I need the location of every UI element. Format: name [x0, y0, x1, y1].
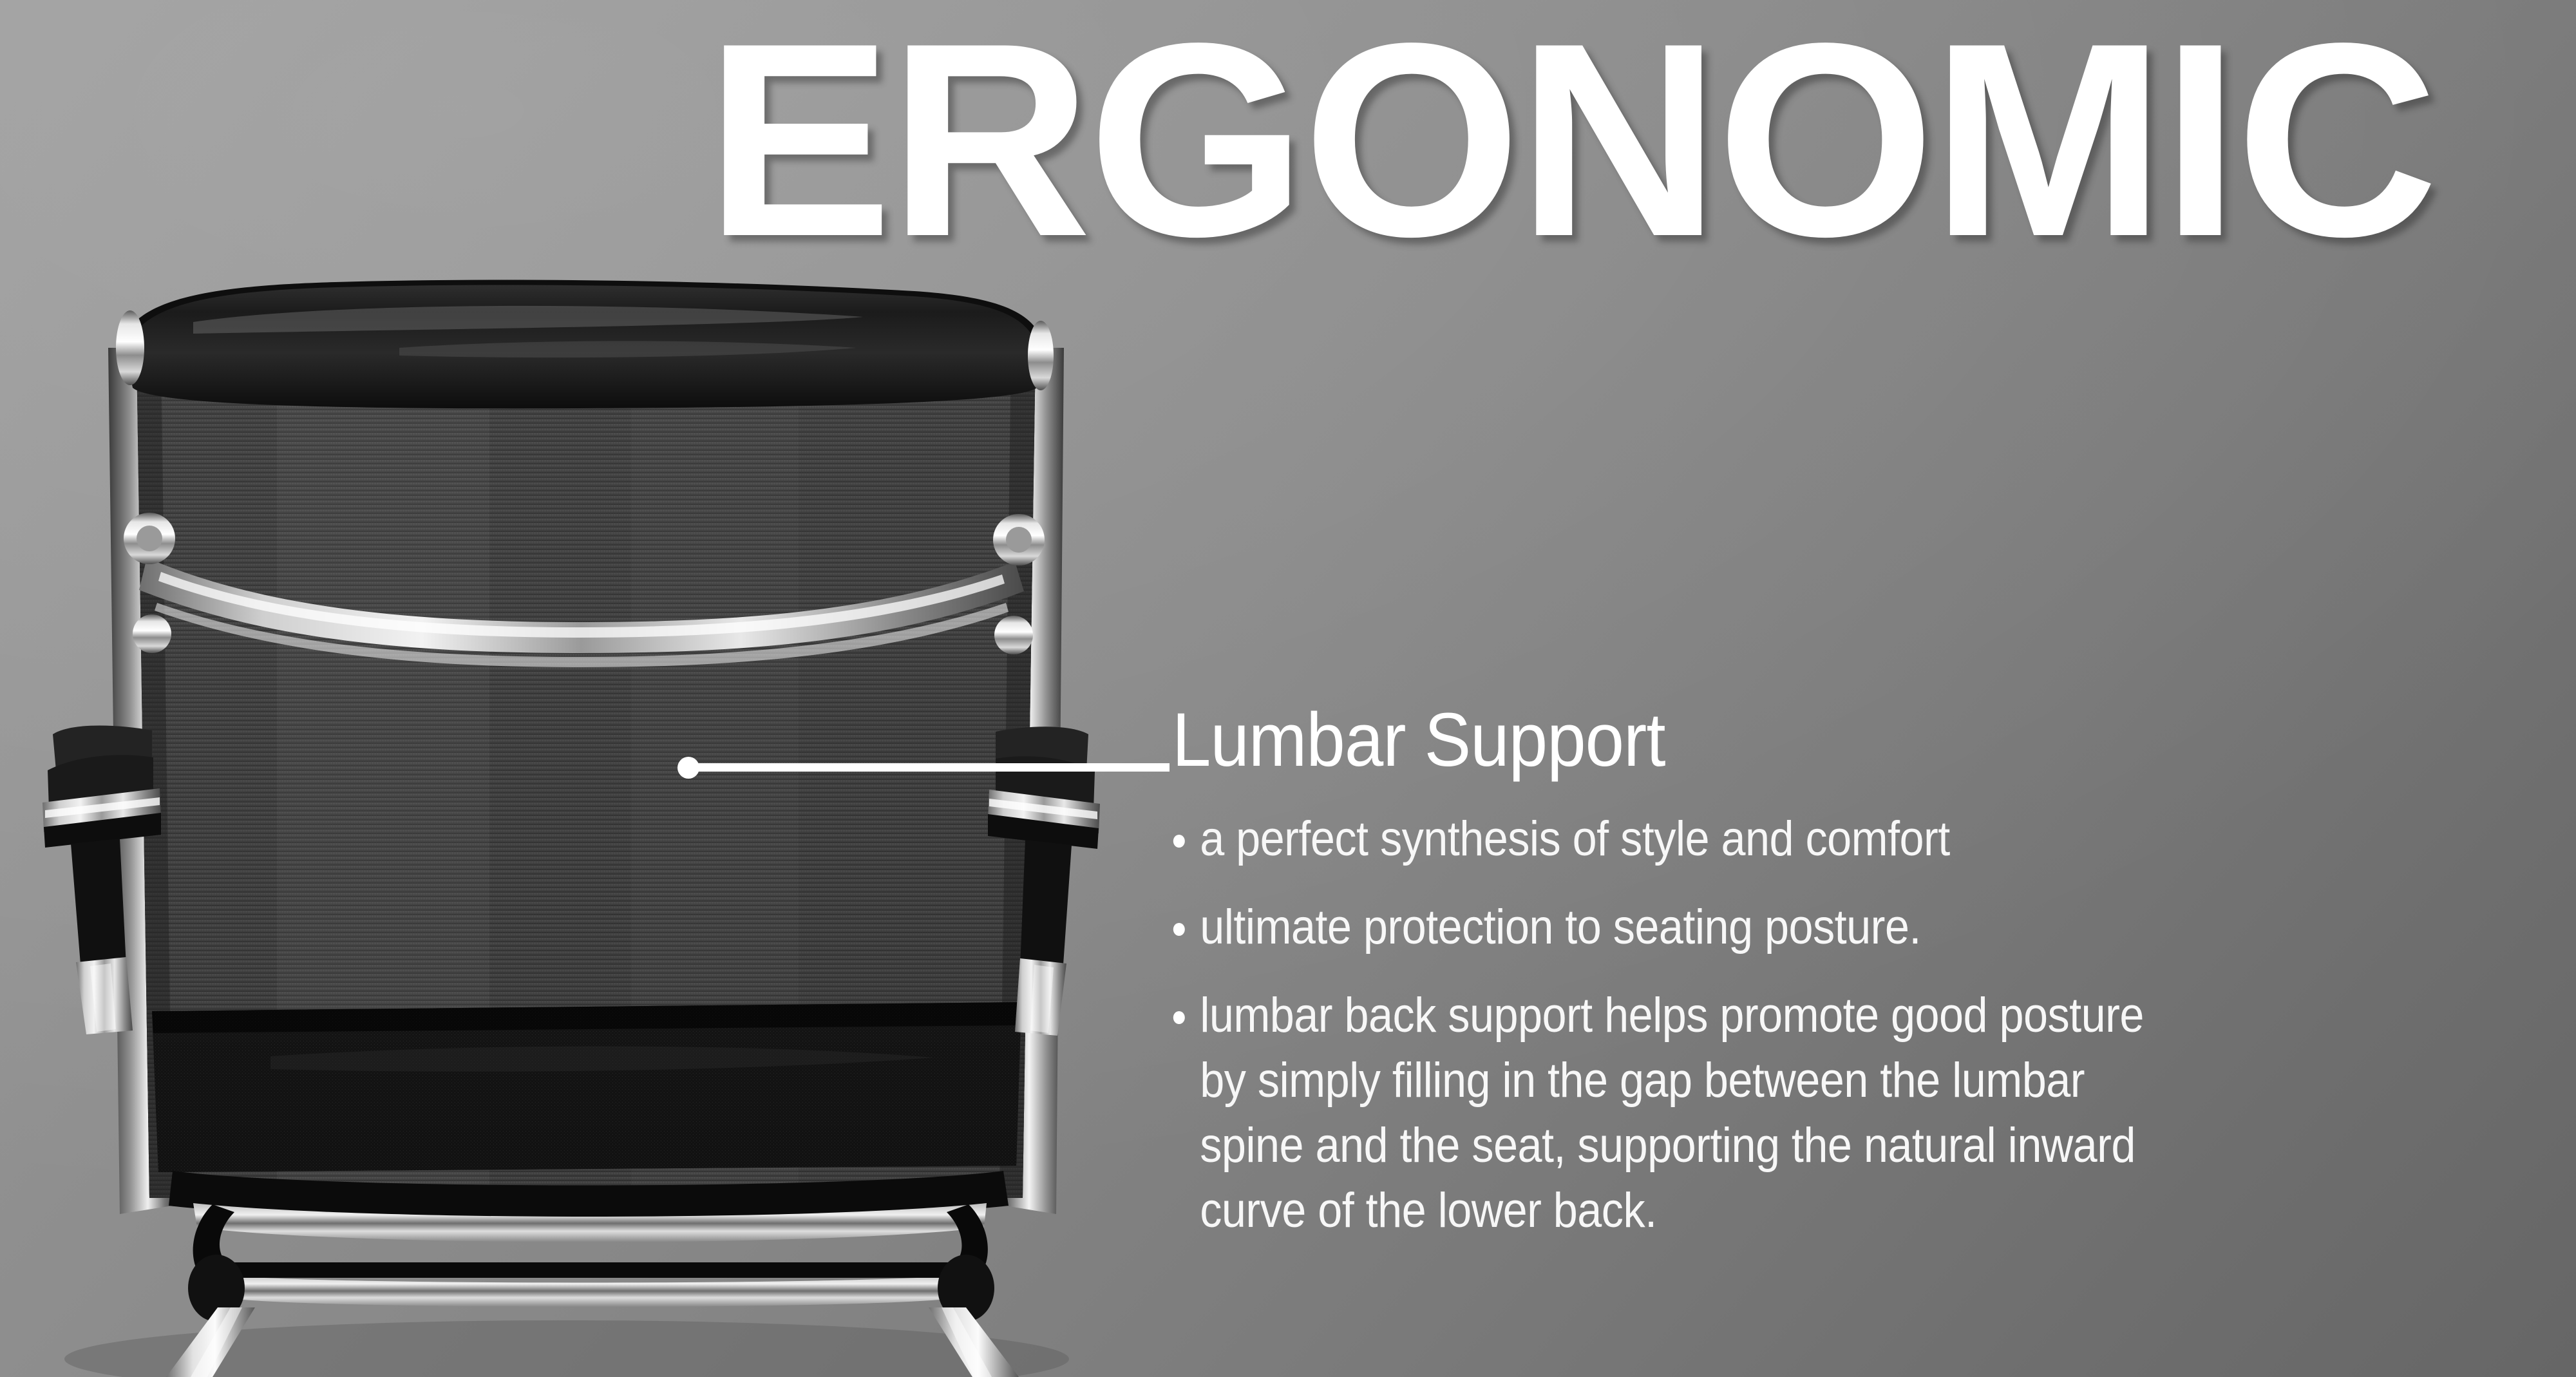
bullet-dot-icon: [1173, 1011, 1185, 1024]
feature-bullet-list: a perfect synthesis of style and comfort…: [1172, 806, 2460, 1243]
list-item: ultimate protection to seating posture.: [1172, 895, 2192, 960]
feature-info-panel: Lumbar Support a perfect synthesis of st…: [1172, 702, 2460, 1243]
bullet-dot-icon: [1173, 923, 1185, 936]
list-item: lumbar back support helps promote good p…: [1172, 983, 2192, 1243]
callout-title: Lumbar Support: [1172, 702, 2357, 778]
product-infographic-canvas: ERGONOMIC Lumbar Support a perfect synth…: [0, 0, 2576, 1377]
page-title: ERGONOMIC: [705, 27, 2479, 253]
list-item: a perfect synthesis of style and comfort: [1172, 806, 2192, 871]
list-item-text: a perfect synthesis of style and comfort: [1200, 812, 1950, 866]
bullet-dot-icon: [1173, 835, 1185, 848]
callout-leader-line: [688, 763, 1170, 772]
list-item-text: ultimate protection to seating posture.: [1200, 900, 1921, 954]
list-item-text: lumbar back support helps promote good p…: [1200, 988, 2144, 1238]
